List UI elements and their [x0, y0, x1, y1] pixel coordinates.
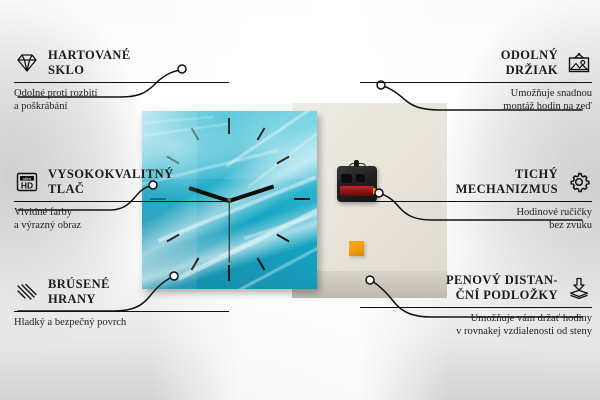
title-line-2: DRŽIAK — [501, 63, 558, 78]
feature-tempered-glass: HARTOVANÉ SKLO Odolné proti rozbití a po… — [14, 48, 229, 113]
infographic-canvas: HARTOVANÉ SKLO Odolné proti rozbití a po… — [0, 0, 600, 400]
feature-header: BRÚSENÉ HRANY — [14, 277, 229, 306]
feature-title: PENOVÝ DISTAN- ČNÍ PODLOŽKY — [446, 273, 558, 302]
feature-description: Hodinové ručičky bez zvuku — [360, 207, 592, 232]
gear-icon — [566, 170, 592, 194]
title-line-2: ČNÍ PODLOŽKY — [446, 288, 558, 303]
title-line-2: MECHANIZMUS — [456, 182, 558, 197]
feature-header: HARTOVANÉ SKLO — [14, 48, 229, 77]
feature-header: ultra HD VYSOKOKVALITNÝ TLAČ — [14, 167, 229, 196]
title-line-1: HARTOVANÉ — [48, 48, 131, 63]
desc-line-2: v rovnakej vzdialenosti od steny — [360, 326, 592, 339]
divider — [14, 201, 229, 202]
feature-header: TICHÝ MECHANIZMUS — [360, 167, 592, 196]
desc-line-2: bez zvuku — [360, 220, 592, 233]
ultra-hd-icon: ultra HD — [14, 170, 40, 194]
title-line-1: VYSOKOKVALITNÝ — [48, 167, 174, 182]
feature-description: Hladký a bezpečný povrch — [14, 317, 229, 330]
title-line-1: PENOVÝ DISTAN- — [446, 273, 558, 288]
desc-line-2: montáž hodin na zeď — [360, 101, 592, 114]
desc-line-1: Odolné proti rozbití — [14, 88, 229, 101]
picture-hanger-icon — [566, 51, 592, 75]
desc-line-1: Hodinové ručičky — [360, 207, 592, 220]
ground-edges-icon — [14, 280, 40, 304]
title-line-2: TLAČ — [48, 182, 174, 197]
feature-title: BRÚSENÉ HRANY — [48, 277, 110, 306]
desc-line-1: Umožňuje snadnou — [360, 88, 592, 101]
desc-line-2: a poškrábání — [14, 101, 229, 114]
feature-header: ODOLNÝ DRŽIAK — [360, 48, 592, 77]
divider — [360, 201, 592, 202]
title-line-2: HRANY — [48, 292, 110, 307]
divider — [14, 311, 229, 312]
feature-title: TICHÝ MECHANIZMUS — [456, 167, 558, 196]
feature-high-quality-print: ultra HD VYSOKOKVALITNÝ TLAČ Vividné far… — [14, 167, 229, 232]
desc-line-1: Umožňuje vám držať hodiny — [360, 313, 592, 326]
feature-description: Vividné farby a výrazný obraz — [14, 207, 229, 232]
desc-line-1: Vividné farby — [14, 207, 229, 220]
title-line-1: BRÚSENÉ — [48, 277, 110, 292]
divider — [360, 307, 592, 308]
divider — [14, 82, 229, 83]
title-line-1: TICHÝ — [456, 167, 558, 182]
feature-silent-mechanism: TICHÝ MECHANIZMUS Hodinové ručičky bez z… — [360, 167, 592, 232]
feature-description: Umožňuje snadnou montáž hodin na zeď — [360, 88, 592, 113]
feature-description: Umožňuje vám držať hodiny v rovnakej vzd… — [360, 313, 592, 338]
spacer-pad-icon — [566, 276, 592, 300]
feature-title: HARTOVANÉ SKLO — [48, 48, 131, 77]
feature-foam-spacers: PENOVÝ DISTAN- ČNÍ PODLOŽKY Umožňuje vám… — [360, 273, 592, 338]
feature-durable-hanger: ODOLNÝ DRŽIAK Umožňuje snadnou montáž ho… — [360, 48, 592, 113]
feature-ground-edges: BRÚSENÉ HRANY Hladký a bezpečný povrch — [14, 277, 229, 330]
diamond-icon — [14, 51, 40, 75]
desc-line-2: a výrazný obraz — [14, 220, 229, 233]
feature-header: PENOVÝ DISTAN- ČNÍ PODLOŽKY — [360, 273, 592, 302]
title-line-1: ODOLNÝ — [501, 48, 558, 63]
feature-title: ODOLNÝ DRŽIAK — [501, 48, 558, 77]
divider — [360, 82, 592, 83]
feature-title: VYSOKOKVALITNÝ TLAČ — [48, 167, 174, 196]
svg-text:HD: HD — [21, 180, 33, 190]
feature-description: Odolné proti rozbití a poškrábání — [14, 88, 229, 113]
title-line-2: SKLO — [48, 63, 131, 78]
desc-line-1: Hladký a bezpečný povrch — [14, 317, 229, 330]
